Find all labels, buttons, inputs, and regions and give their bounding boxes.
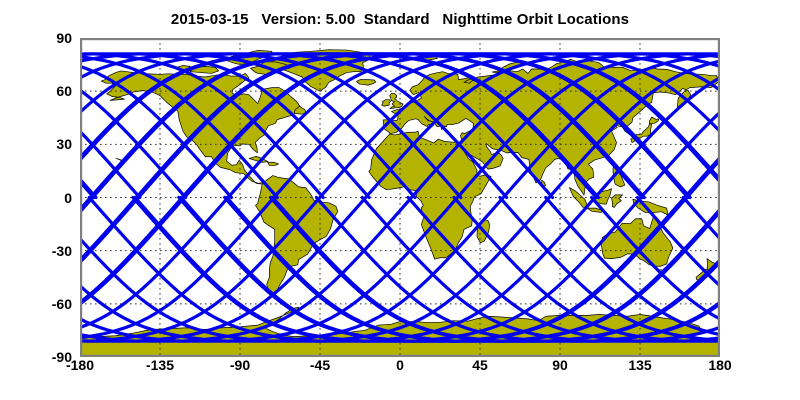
x-tick-label: 0: [370, 358, 430, 372]
x-tick-label: -45: [290, 358, 350, 372]
x-tick-label: -90: [210, 358, 270, 372]
y-tick-label: 0: [32, 191, 72, 205]
x-tick-label: -180: [50, 358, 110, 372]
world-map-svg: [80, 38, 720, 357]
y-tick-label: 90: [32, 31, 72, 45]
y-tick-label: -30: [32, 244, 72, 258]
y-tick-label: 60: [32, 84, 72, 98]
x-tick-label: 135: [610, 358, 670, 372]
figure-title: 2015-03-15 Version: 5.00 Standard Nightt…: [0, 11, 800, 28]
orbit-map-figure: 2015-03-15 Version: 5.00 Standard Nightt…: [0, 0, 800, 400]
x-tick-label: 45: [450, 358, 510, 372]
x-tick-label: 90: [530, 358, 590, 372]
y-tick-label: 30: [32, 137, 72, 151]
map-plot-area: [80, 38, 720, 357]
y-tick-label: -60: [32, 297, 72, 311]
x-tick-label: 180: [690, 358, 750, 372]
x-tick-label: -135: [130, 358, 190, 372]
